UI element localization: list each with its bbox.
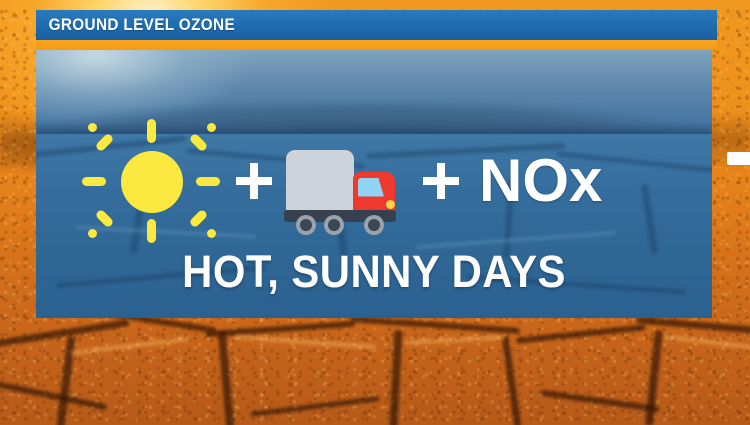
sun-ray-sw bbox=[95, 208, 115, 228]
truck-wheel-rear bbox=[296, 215, 316, 235]
sun-ray-se bbox=[189, 208, 209, 228]
truck-headlight bbox=[386, 200, 395, 209]
truck-wheel-mid bbox=[324, 215, 344, 235]
sun-ray-ne bbox=[189, 132, 209, 152]
page-title: GROUND LEVEL OZONE bbox=[36, 15, 235, 35]
weather-graphic: GROUND LEVEL OZONE bbox=[0, 0, 750, 425]
truck-wheel-front bbox=[364, 215, 384, 235]
plus-icon-2 bbox=[417, 157, 465, 205]
equation-row: NOx bbox=[36, 118, 712, 243]
sun-ray-w bbox=[82, 177, 106, 186]
sun-dot-se bbox=[207, 229, 216, 238]
truck-cargo-box bbox=[286, 150, 354, 212]
sun-dot-sw bbox=[88, 229, 97, 238]
sun-icon bbox=[78, 117, 230, 245]
plus-icon-1 bbox=[230, 157, 278, 205]
sun-ray-n bbox=[147, 119, 156, 143]
banner-accent-rule bbox=[36, 40, 717, 50]
banner: GROUND LEVEL OZONE bbox=[36, 10, 717, 40]
sun-core bbox=[121, 151, 183, 213]
sun-ray-nw bbox=[95, 132, 115, 152]
content-panel: NOx HOT, SUNNY DAYS bbox=[36, 50, 712, 318]
sun-dot-ne bbox=[207, 123, 216, 132]
sun-dot-nw bbox=[88, 123, 97, 132]
sun-ray-e bbox=[196, 177, 220, 186]
nox-label: NOx bbox=[479, 151, 602, 211]
delivery-truck-icon bbox=[278, 132, 403, 230]
sun-ray-s bbox=[147, 219, 156, 243]
caption-text: HOT, SUNNY DAYS bbox=[60, 246, 689, 298]
equals-dash-cropped bbox=[727, 152, 750, 165]
